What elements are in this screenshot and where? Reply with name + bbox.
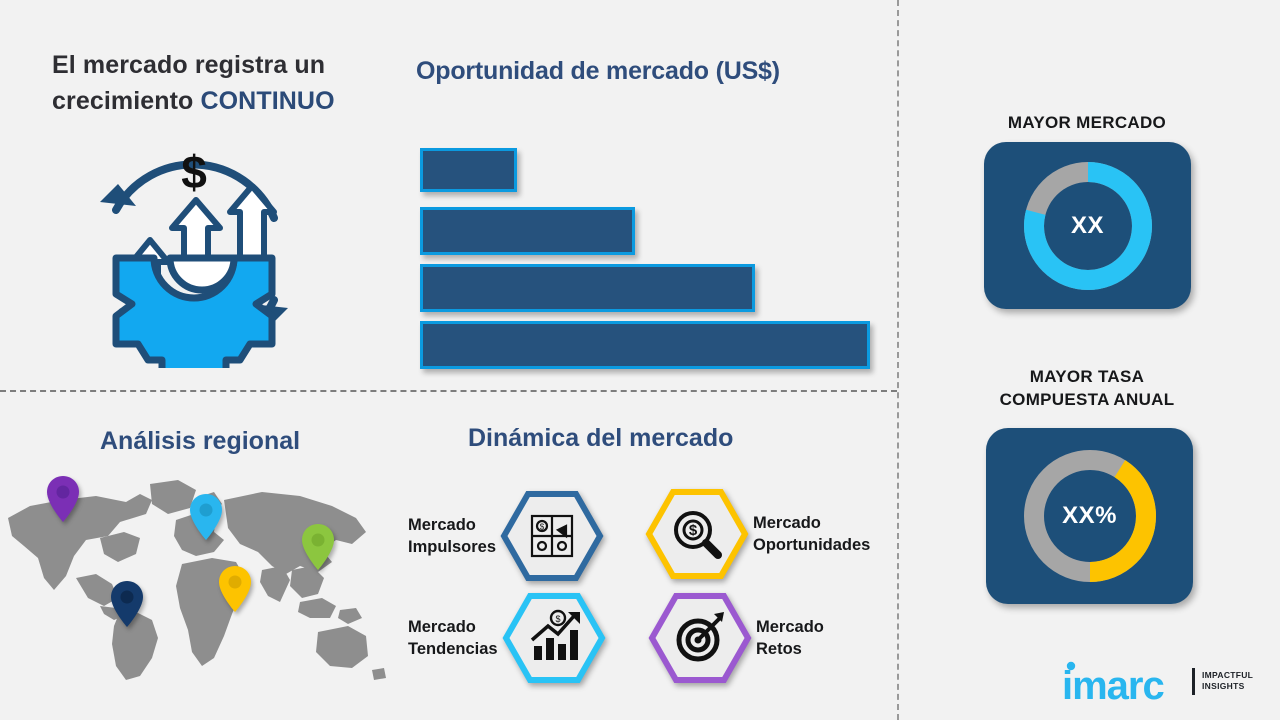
dynamics-label-opportunities: MercadoOportunidades	[753, 512, 870, 557]
svg-text:$: $	[555, 614, 560, 624]
horizontal-divider	[0, 390, 897, 392]
dynamics-item-opportunities[interactable]: $ MercadoOportunidades	[645, 488, 870, 580]
dynamics-item-drivers[interactable]: MercadoImpulsores $	[408, 490, 604, 582]
hexagon-opportunities: $	[645, 488, 749, 580]
chart-title: Oportunidad de mercado (US$)	[416, 57, 886, 86]
kpi-title-highest-cagr: MAYOR TASACOMPUESTA ANUAL	[957, 365, 1217, 412]
dynamics-label-drivers: MercadoImpulsores	[408, 514, 496, 559]
hexagon-challenges	[648, 592, 752, 684]
hexagon-trends: $	[502, 592, 606, 684]
imarc-tagline: IMPACTFULINSIGHTS	[1202, 670, 1253, 692]
headline-line-1: El mercado registra un	[52, 51, 325, 79]
kpi-card-highest-cagr: XX%	[986, 428, 1193, 604]
map-pin-middle-east-africa[interactable]	[219, 566, 251, 617]
dynamics-item-challenges[interactable]: MercadoRetos	[648, 592, 824, 684]
imarc-logo: imarc IMPACTFULINSIGHTS	[1062, 659, 1253, 703]
kpi-value-highest-cagr: XX%	[1062, 502, 1117, 530]
bar-row	[420, 207, 635, 255]
regional-analysis-title: Análisis regional	[100, 427, 400, 456]
bar-row	[420, 321, 870, 369]
hexagon-drivers: $	[500, 490, 604, 582]
map-pin-asia[interactable]	[302, 524, 334, 575]
svg-text:$: $	[689, 522, 698, 539]
growth-gear-icon: $	[78, 140, 310, 368]
kpi-title-largest-market: MAYOR MERCADO	[957, 111, 1217, 134]
page-title: El mercado registra un crecimiento CONTI…	[52, 48, 392, 119]
map-pin-europe[interactable]	[190, 494, 222, 545]
vertical-divider	[897, 0, 899, 720]
market-dynamics-title: Dinámica del mercado	[468, 424, 848, 453]
kpi-value-largest-market: XX	[1071, 212, 1104, 240]
svg-text:$: $	[540, 523, 545, 532]
headline-line-2-plain: crecimiento	[52, 87, 200, 115]
dynamics-label-trends: MercadoTendencias	[408, 616, 498, 661]
logo-divider	[1192, 668, 1195, 695]
imarc-wordmark: imarc	[1062, 659, 1190, 703]
map-pin-south-america[interactable]	[111, 581, 143, 632]
map-pin-north-america[interactable]	[47, 476, 79, 527]
bar-row	[420, 264, 755, 312]
kpi-card-largest-market: XX	[984, 142, 1191, 309]
market-opportunity-bar-chart	[420, 145, 880, 360]
world-map	[0, 466, 400, 686]
headline-accent: CONTINUO	[200, 87, 334, 115]
svg-text:$: $	[181, 146, 207, 198]
bar-row	[420, 148, 517, 192]
dynamics-item-trends[interactable]: MercadoTendencias $	[408, 592, 606, 684]
infographic-canvas: El mercado registra un crecimiento CONTI…	[0, 0, 1280, 720]
svg-text:imarc: imarc	[1062, 664, 1164, 703]
dynamics-label-challenges: MercadoRetos	[756, 616, 824, 661]
